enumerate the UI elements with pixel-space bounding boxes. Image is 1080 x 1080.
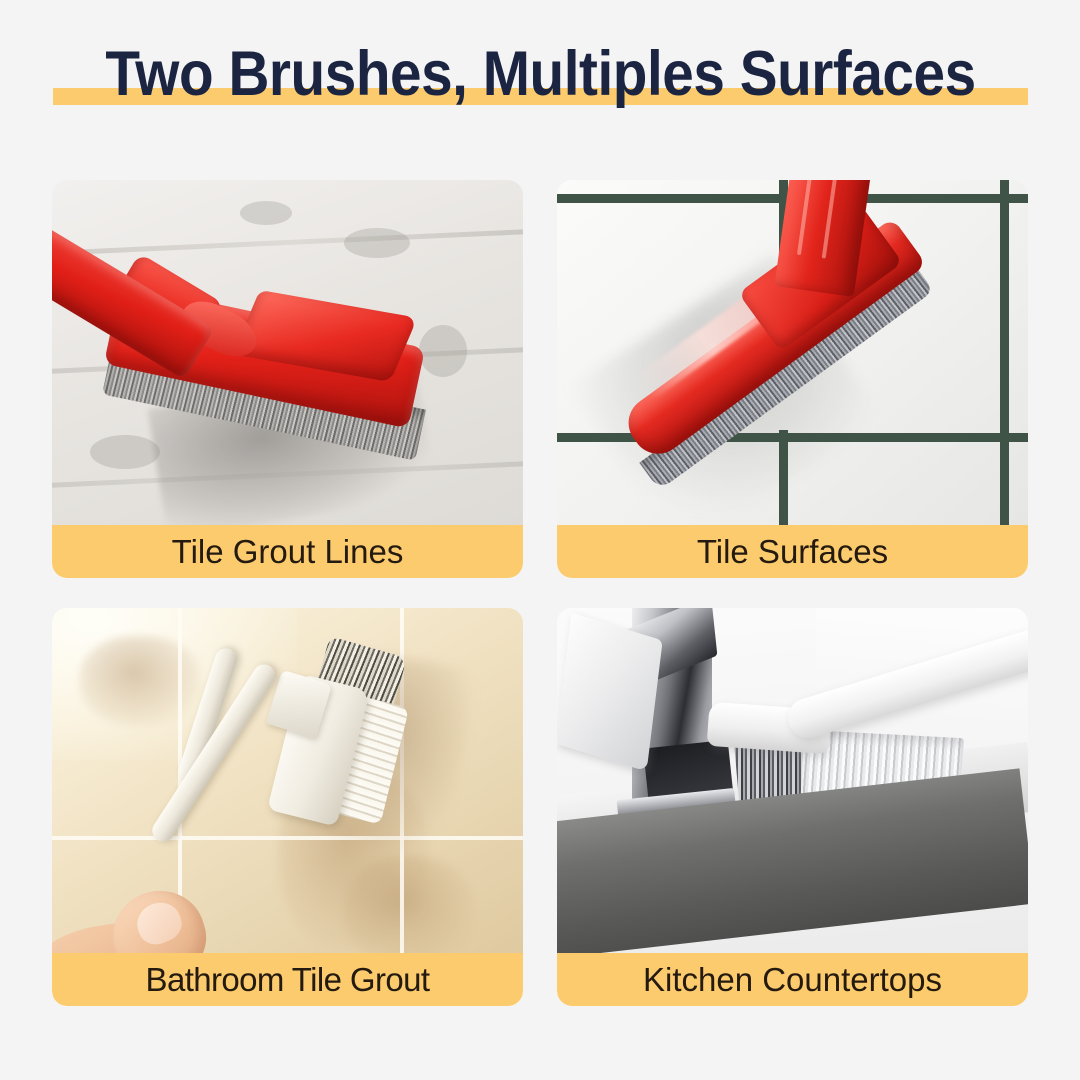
tile-seam-horizontal xyxy=(52,836,523,840)
feature-card-tile-grout-lines[interactable]: Tile Grout Lines xyxy=(52,180,523,578)
tile-texture-speck xyxy=(344,228,410,258)
caption-bar: Kitchen Countertops xyxy=(557,953,1028,1006)
caption-bar: Bathroom Tile Grout xyxy=(52,953,523,1006)
photo-kitchen-countertops xyxy=(557,608,1028,953)
tile-texture-speck xyxy=(240,201,292,225)
page-title: Two Brushes, Multiples Surfaces xyxy=(102,38,980,110)
caption-label: Kitchen Countertops xyxy=(643,962,942,998)
feature-card-bathroom-tile-grout[interactable]: Bathroom Tile Grout xyxy=(52,608,523,1006)
photo-tile-grout-lines xyxy=(52,180,523,525)
tile-seam xyxy=(52,228,523,257)
header-banner: Two Brushes, Multiples Surfaces xyxy=(0,0,1080,150)
feature-card-kitchen-countertops[interactable]: Kitchen Countertops xyxy=(557,608,1028,1006)
photo-tile-surfaces xyxy=(557,180,1028,525)
grout-line-vertical xyxy=(779,430,788,525)
feature-card-tile-surfaces[interactable]: Tile Surfaces xyxy=(557,180,1028,578)
grout-line-horizontal xyxy=(557,433,1028,442)
caption-label: Tile Grout Lines xyxy=(172,534,404,570)
faucet-lever-handle xyxy=(557,613,663,772)
grout-line-vertical xyxy=(1000,180,1009,525)
feature-grid: Tile Grout Lines Tile Surfaces xyxy=(52,180,1028,1008)
caption-label: Tile Surfaces xyxy=(697,534,888,570)
tile-stain xyxy=(344,856,474,953)
caption-label: Bathroom Tile Grout xyxy=(146,962,430,998)
tile-stain xyxy=(80,636,200,726)
caption-bar: Tile Surfaces xyxy=(557,525,1028,578)
photo-bathroom-tile-grout xyxy=(52,608,523,953)
caption-bar: Tile Grout Lines xyxy=(52,525,523,578)
title-wrap: Two Brushes, Multiples Surfaces xyxy=(53,38,1028,110)
tile-texture-speck xyxy=(90,435,160,469)
tile-texture-speck xyxy=(419,325,467,377)
